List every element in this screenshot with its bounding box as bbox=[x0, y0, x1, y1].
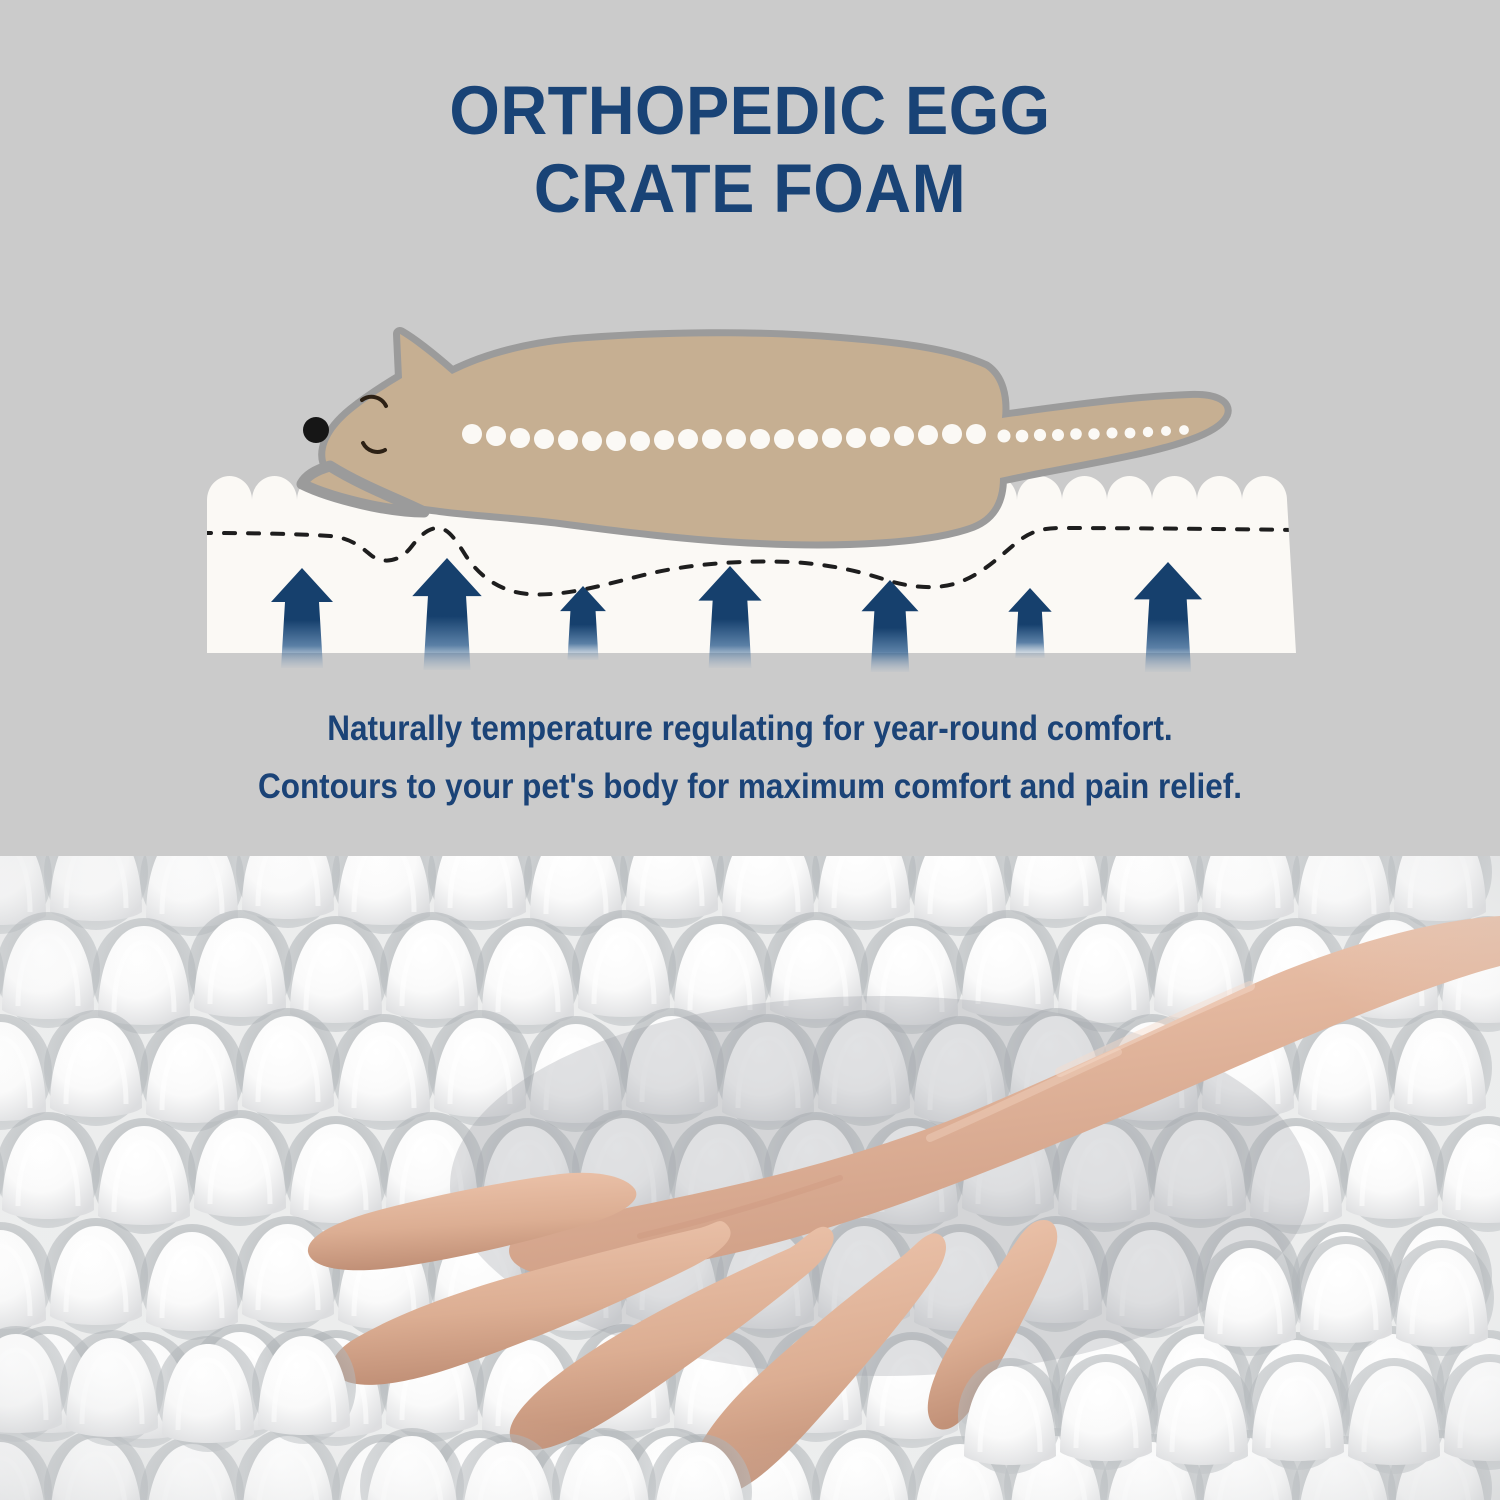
hand-pressing-egg-crate-foam-photo bbox=[0, 856, 1500, 1500]
dog-nose bbox=[303, 417, 329, 443]
product-feature-graphic: ORTHOPEDIC EGG CRATE FOAM bbox=[0, 0, 1500, 1500]
feature-description: Naturally temperature regulating for yea… bbox=[75, 700, 1425, 816]
feature-line-2: Contours to your pet's body for maximum … bbox=[75, 758, 1425, 816]
foam-photo-illustration bbox=[0, 856, 1500, 1500]
info-panel: ORTHOPEDIC EGG CRATE FOAM bbox=[0, 0, 1500, 856]
feature-line-1: Naturally temperature regulating for yea… bbox=[75, 700, 1425, 758]
